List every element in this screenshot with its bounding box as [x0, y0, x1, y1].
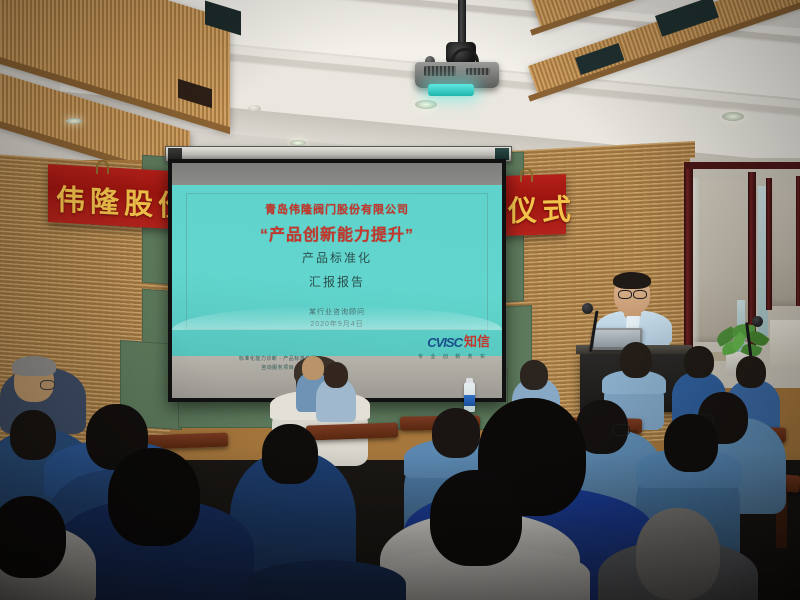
slide-subtitle-2: 汇报报告 [172, 273, 502, 290]
slide-quote-title: “产品创新能力提升” [172, 221, 502, 245]
conference-room-photo: 伟隆股份 启动仪式 青岛伟隆阀门股份有限公司 “产品创新能力提升” 产品标准化 … [0, 0, 800, 600]
presenter-glasses-icon [618, 290, 632, 299]
window-mullion [796, 176, 800, 306]
slide-logo: CVISC 知信 [427, 331, 490, 350]
window-mullion [684, 165, 693, 357]
slide-company-name: 青岛伟隆阀门股份有限公司 [172, 201, 502, 217]
ceiling-downlight [722, 112, 744, 121]
chair-back [306, 422, 398, 440]
slide-subtitle-1: 产品标准化 [172, 249, 502, 266]
slide-logo-mark: CVISC [427, 335, 462, 350]
window-blind[interactable] [692, 178, 756, 342]
ceiling-downlight [415, 100, 437, 109]
projector-lens [428, 84, 474, 96]
slide-logo-cn: 知信 [464, 331, 490, 350]
window-mullion [766, 178, 772, 310]
smoke-detector-icon [248, 105, 261, 112]
screen-blank-area [172, 163, 502, 185]
presenter-glasses-icon [633, 290, 647, 299]
ceiling-downlight [66, 118, 82, 124]
presentation-slide: 青岛伟隆阀门股份有限公司 “产品创新能力提升” 产品标准化 汇报报告 某行业咨询… [172, 185, 502, 356]
slide-logo-tagline: 专 业 创 新 务 实 [418, 353, 488, 397]
banner-clip-icon [96, 160, 109, 174]
foreground-shadow [0, 450, 800, 600]
banner-clip-icon [520, 168, 533, 182]
